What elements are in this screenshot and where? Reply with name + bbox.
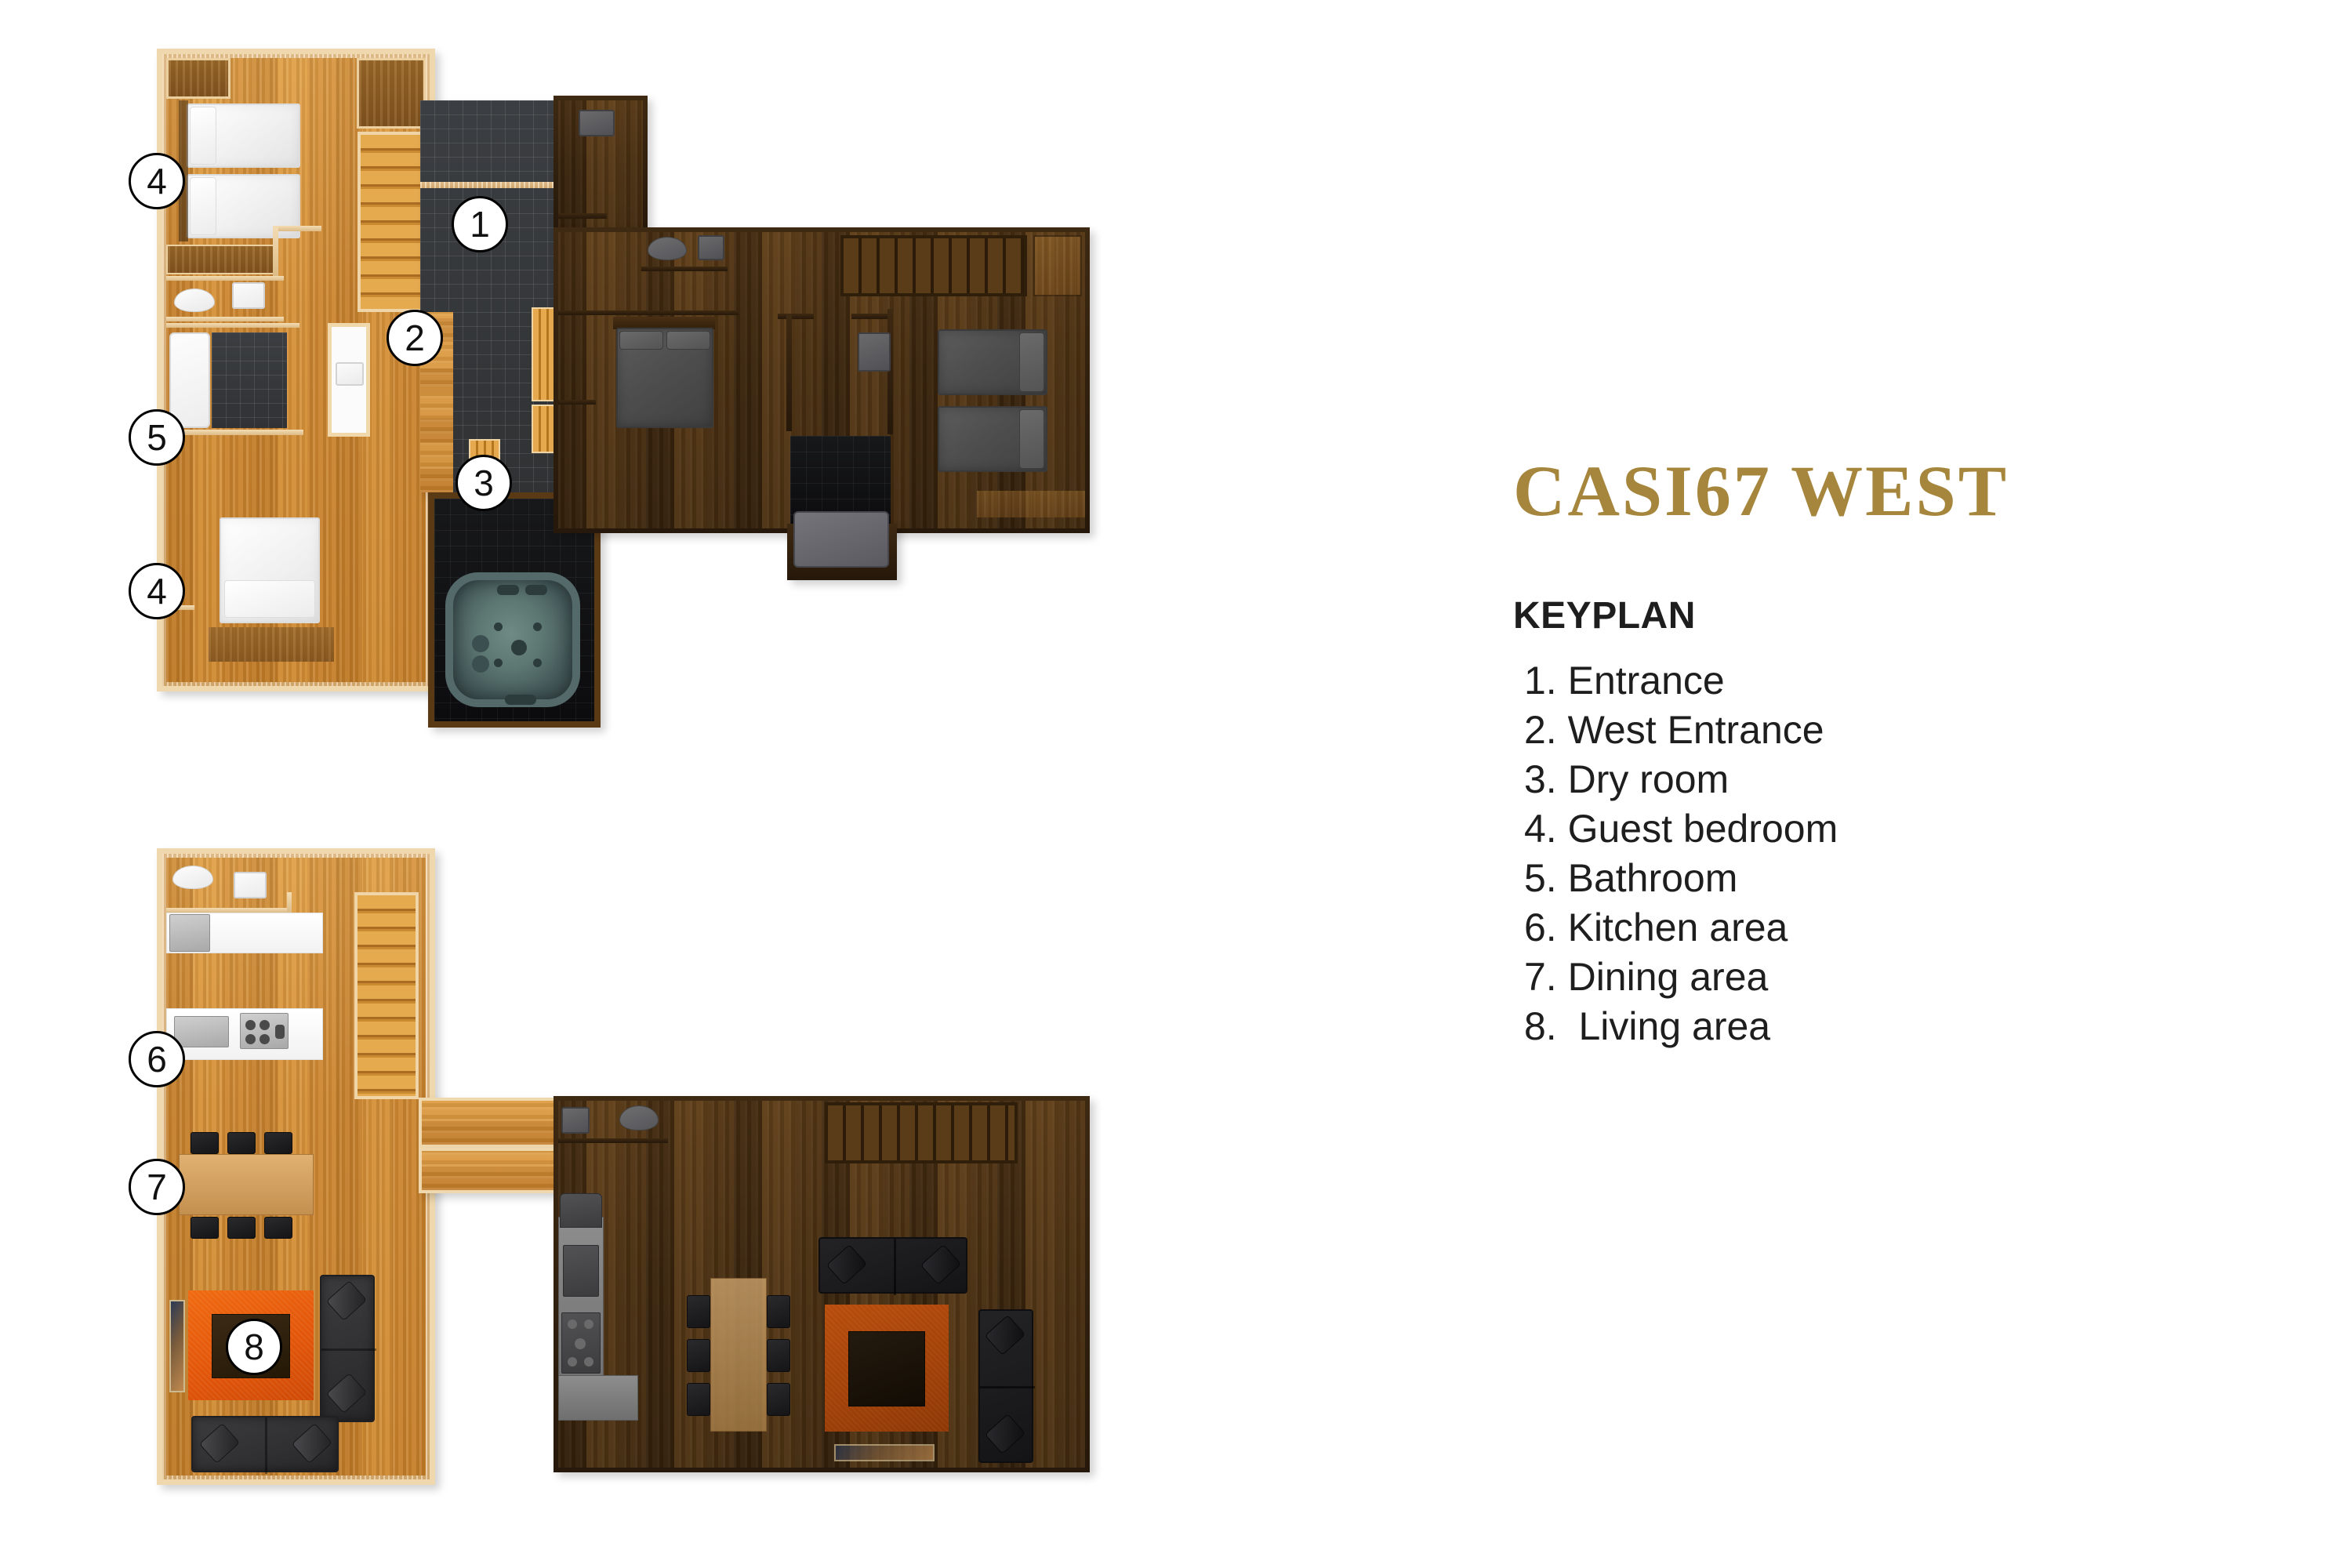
bathtub-icon-upper-dark: [793, 511, 889, 568]
lower-floor-plan: 6 7 8: [0, 831, 1176, 1537]
lower-staircase-light: [354, 892, 419, 1099]
upper-staircase-light: [358, 132, 425, 312]
keyplan-list: 1. Entrance 2. West Entrance 3. Dry room…: [1513, 656, 2297, 1051]
dark-kitchen-sink-icon: [563, 1245, 599, 1297]
master-bed-pillow-right: [666, 331, 710, 350]
partition-mid-b: [786, 314, 792, 431]
dark-stove-hob-icon: [561, 1312, 601, 1374]
sofa-right-dark: [978, 1309, 1033, 1463]
double-bed-pillow: [224, 580, 315, 618]
sink-icon-upper-dark: [698, 235, 724, 260]
marker-6-kitchen-area[interactable]: 6: [129, 1031, 185, 1087]
partition-mid-d: [887, 309, 893, 434]
lower-wc-wall-v: [287, 892, 292, 913]
master-bed-wall-top: [558, 310, 739, 315]
refrigerator-icon: [169, 914, 210, 952]
toilet-icon-upper-dark: [648, 237, 687, 260]
dark-dining-chair-3: [687, 1383, 710, 1416]
dining-chair-3: [264, 1132, 292, 1154]
marker-3-dry-room[interactable]: 3: [456, 455, 512, 511]
dining-chair-2: [227, 1132, 256, 1154]
dining-chair-4: [191, 1217, 219, 1239]
partition-mid-c: [851, 314, 887, 319]
marker-4-guest-bedroom-double[interactable]: 4: [129, 563, 185, 619]
dark-wc-wall: [558, 213, 607, 219]
dark-landing-strip: [1033, 235, 1082, 296]
bathroom-wall-bottom: [166, 430, 303, 435]
sink-icon-upper-left: [232, 282, 265, 309]
entrance-threshold-1: [420, 182, 564, 188]
marker-5-bathroom[interactable]: 5: [129, 409, 185, 466]
marker-4-guest-bedroom-twin[interactable]: 4: [129, 153, 185, 209]
lower-connecting-corridor-2: [419, 1148, 558, 1193]
dark-twin-bed-upper-pillow: [1019, 332, 1044, 392]
keyplan-item-2: 2. West Entrance: [1513, 706, 2297, 755]
dark-dining-chair-6: [767, 1383, 790, 1416]
toilet-icon-lower-left: [172, 866, 213, 889]
sofa-top-dark: [818, 1237, 967, 1294]
sink-icon-vanity: [336, 362, 364, 386]
upper-floor-plan: 4 1 2 5 3 4: [0, 0, 1176, 815]
sink-icon-lower-left: [234, 872, 267, 898]
page-title: CASI67 WEST: [1513, 455, 2297, 527]
hot-tub-icon: [445, 572, 580, 707]
dark-twin-bed-lower-pillow: [1019, 409, 1044, 469]
toilet-icon-lower-dark: [619, 1105, 659, 1131]
dark-kitchen-island: [558, 1375, 638, 1421]
closet-strip-top: [166, 58, 230, 99]
marker-2-west-entrance[interactable]: 2: [387, 310, 443, 366]
sink-icon-dark-wc: [579, 110, 615, 136]
shower-floor-tiles: [212, 332, 287, 428]
lower-connecting-corridor: [419, 1098, 558, 1148]
keyplan-heading: KEYPLAN: [1513, 594, 2297, 637]
kitchen-sink-icon: [174, 1016, 229, 1047]
keyplan-item-5: 5. Bathroom: [1513, 854, 2297, 903]
info-panel: CASI67 WEST KEYPLAN 1. Entrance 2. West …: [1513, 455, 2297, 1051]
coffee-table-dark: [848, 1331, 925, 1406]
wall-divider-a: [273, 226, 321, 231]
dining-chair-6: [264, 1217, 292, 1239]
twin-bed-lower-pillow: [190, 177, 216, 235]
dark-dining-chair-1: [687, 1295, 710, 1328]
tv-icon-dark: [834, 1444, 935, 1461]
dark-dining-chair-4: [767, 1295, 790, 1328]
dining-table-dark: [710, 1278, 767, 1432]
wc-wall-bottom: [166, 317, 284, 321]
partition-mid-a: [778, 314, 814, 319]
tv-icon-light: [169, 1300, 185, 1392]
marker-1-entrance[interactable]: 1: [452, 196, 508, 252]
landing-strip-top: [357, 58, 426, 129]
stove-hob-icon: [240, 1013, 289, 1049]
bedroom-foot-strip: [209, 627, 334, 662]
dining-table-light: [179, 1154, 314, 1215]
sink-icon-lower-dark: [561, 1107, 590, 1134]
dark-dining-chair-2: [687, 1339, 710, 1372]
dining-chair-1: [191, 1132, 219, 1154]
master-bed-wall-left: [558, 400, 596, 405]
marker-8-living-area[interactable]: 8: [226, 1319, 282, 1375]
upper-staircase-dark: [840, 235, 1027, 296]
wall-divider-b: [273, 226, 278, 278]
dining-chair-5: [227, 1217, 256, 1239]
keyplan-item-3: 3. Dry room: [1513, 755, 2297, 804]
master-bed-pillow-left: [619, 331, 663, 350]
sink-icon-upper-dark-mid: [858, 332, 891, 372]
lower-dark-wc-wall: [558, 1138, 668, 1143]
keyplan-item-1: 1. Entrance: [1513, 656, 2297, 706]
bathtub-icon: [169, 332, 210, 428]
bathroom-wall-top: [166, 323, 299, 328]
wc-wall-top: [166, 276, 284, 281]
partition-wall-a: [166, 245, 274, 274]
twin-bed-upper-pillow: [190, 107, 216, 165]
sofa-bottom-light: [191, 1416, 339, 1472]
dark-bedroom-foot-strip: [977, 491, 1085, 517]
keyplan-item-8: 8. Living area: [1513, 1002, 2297, 1051]
keyplan-item-7: 7. Dining area: [1513, 953, 2297, 1002]
dark-kitchen-hood: [560, 1193, 602, 1228]
lower-staircase-dark: [825, 1102, 1018, 1163]
keyplan-item-4: 4. Guest bedroom: [1513, 804, 2297, 854]
marker-7-dining-area[interactable]: 7: [129, 1159, 185, 1215]
dark-toilet-wall: [641, 267, 728, 271]
sofa-right-light: [320, 1275, 375, 1422]
toilet-icon-upper-left: [174, 289, 215, 312]
dark-dining-chair-5: [767, 1339, 790, 1372]
keyplan-item-6: 6. Kitchen area: [1513, 903, 2297, 953]
